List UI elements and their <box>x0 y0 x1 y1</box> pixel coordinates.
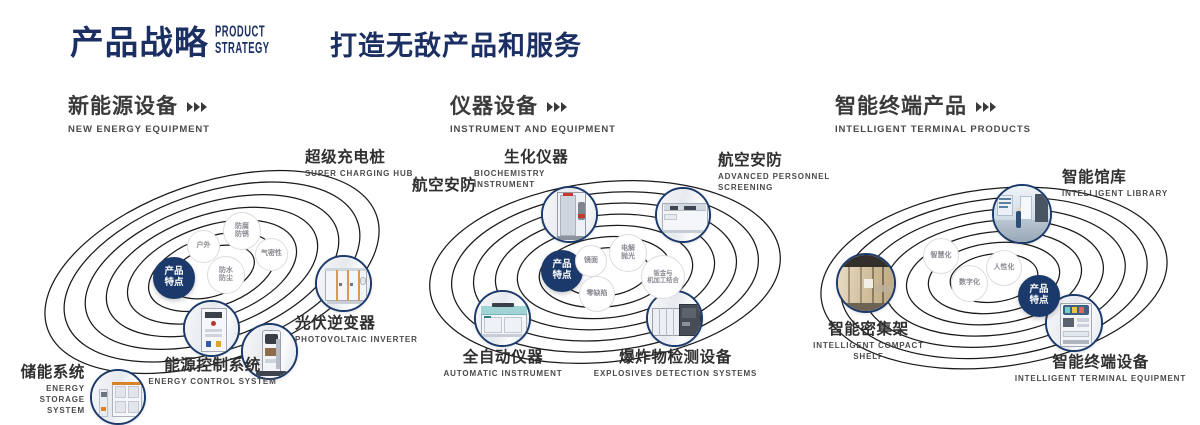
node-intelligent-compact-shelf[interactable] <box>836 253 896 313</box>
feature-primary-line2: 特点 <box>552 271 571 282</box>
node-biochemistry-instrument[interactable] <box>541 186 598 243</box>
label-biochemistry-instrument: 生化仪器 BIOCHEMISTRY INSTRUMENT <box>474 150 592 191</box>
intelligent-library-art <box>994 186 1050 242</box>
chevron-right-icon <box>547 102 567 112</box>
feature-bubble-digital: 数字化 <box>951 265 988 302</box>
label-en: INTELLIGENT COMPACT SHELF <box>796 341 941 363</box>
advanced-personnel-screening-art <box>657 189 709 241</box>
feature-bubble-humanized: 人性化 <box>986 250 1022 286</box>
node-automatic-instrument[interactable] <box>474 290 531 347</box>
section-title-en-0: NEW ENERGY EQUIPMENT <box>68 124 210 135</box>
page-subtitle: 打造无敌产品和服务 <box>330 33 582 60</box>
label-en: INTELLIGENT LIBRARY <box>1062 189 1192 200</box>
label-cn: 全自动仪器 <box>423 350 583 366</box>
feature-bubble-sheetmetal-machining: 钣金与 机加工结合 <box>641 255 685 299</box>
page-title-en: PRODUCT STRATEGY <box>215 26 270 57</box>
photovoltaic-inverter-art <box>317 257 370 310</box>
label-energy-control-system: 能源控制系统 ENERGY CONTROL SYSTEM <box>130 358 295 388</box>
chevron-right-icon <box>976 102 996 112</box>
section-title-cn-2: 智能终端产品 <box>835 96 967 117</box>
poster-canvas: 产品战略 PRODUCT STRATEGY 打造无敌产品和服务 新能源设备 NE… <box>0 0 1200 422</box>
feature-bubble-waterproof: 防水 防尘 <box>207 256 245 294</box>
feature-bubble-intelligent: 智慧化 <box>923 238 959 274</box>
section-title-en-2: INTELLIGENT TERMINAL PRODUCTS <box>835 124 1031 135</box>
section-header-terminal: 智能终端产品 INTELLIGENT TERMINAL PRODUCTS <box>835 96 1031 135</box>
energy-control-system-art <box>185 302 238 355</box>
feature-primary-line2: 特点 <box>164 278 183 289</box>
page-title-en-line1: PRODUCT <box>215 26 270 42</box>
label-intelligent-terminal-equipment: 智能终端设备 INTELLIGENT TERMINAL EQUIPMENT <box>1003 355 1198 385</box>
feature-primary-line2: 特点 <box>1029 296 1048 307</box>
label-en: ENERGY STORAGE SYSTEM <box>0 384 85 416</box>
node-energy-control-system[interactable] <box>183 300 240 357</box>
label-cn: 生化仪器 <box>504 150 592 166</box>
explosives-detection-systems-art <box>648 292 701 345</box>
label-cn: 能源控制系统 <box>130 358 295 374</box>
section-title-en-1: INSTRUMENT AND EQUIPMENT <box>450 124 616 135</box>
label-en: AUTOMATIC INSTRUMENT <box>423 369 583 380</box>
cluster-new-energy-equipment: 储能系统 ENERGY STORAGE SYSTEM 超级充电桩 SUPER C… <box>0 150 420 400</box>
node-advanced-personnel-screening[interactable] <box>655 187 711 243</box>
biochemistry-instrument-art <box>543 188 596 241</box>
label-en: ENERGY CONTROL SYSTEM <box>130 377 295 388</box>
label-en: EXPLOSIVES DETECTION SYSTEMS <box>583 369 768 380</box>
feature-bubble-mirror: 镜面 <box>575 245 607 277</box>
label-intelligent-compact-shelf: 智能密集架 INTELLIGENT COMPACT SHELF <box>796 322 941 363</box>
intelligent-compact-shelf-art <box>838 255 894 311</box>
feature-bubble-airtight: 气密性 <box>255 238 288 271</box>
feature-bubble-zero-defect: 零缺陷 <box>579 276 615 312</box>
label-cn: 爆炸物检测设备 <box>583 350 768 366</box>
node-photovoltaic-inverter[interactable] <box>315 255 372 312</box>
label-energy-storage-system: 储能系统 ENERGY STORAGE SYSTEM <box>0 365 85 417</box>
label-en: INTELLIGENT TERMINAL EQUIPMENT <box>1003 374 1198 385</box>
page-title-en-line2: STRATEGY <box>215 41 270 57</box>
label-en: BIOCHEMISTRY INSTRUMENT <box>474 169 592 191</box>
feature-bubble-electropolishing: 电解 抛光 <box>609 234 647 272</box>
node-intelligent-library[interactable] <box>992 184 1052 244</box>
label-cn: 智能密集架 <box>796 322 941 338</box>
label-explosives-detection-systems: 爆炸物检测设备 EXPLOSIVES DETECTION SYSTEMS <box>583 350 768 380</box>
node-explosives-detection-systems[interactable] <box>646 290 703 347</box>
section-header-instrument: 仪器设备 INSTRUMENT AND EQUIPMENT <box>450 96 616 135</box>
automatic-instrument-art <box>476 292 529 345</box>
label-cn: 储能系统 <box>0 365 85 381</box>
feature-bubble-primary: 产品 特点 <box>153 257 195 299</box>
feature-bubble-primary: 产品 特点 <box>1018 275 1060 317</box>
section-title-cn-0: 新能源设备 <box>68 96 178 117</box>
label-cn: 智能馆库 <box>1062 170 1192 186</box>
section-title-cn-1: 仪器设备 <box>450 96 538 117</box>
cluster-intelligent-terminal-products: 智能馆库 INTELLIGENT LIBRARY 智能终端设备 INTELLIG… <box>790 150 1200 400</box>
label-cn: 智能终端设备 <box>1003 355 1198 371</box>
chevron-right-icon <box>187 102 207 112</box>
cluster-instrument-and-equipment: 航空安防 生化仪器 BIOCHEMISTRY INSTRUMENT <box>400 150 820 400</box>
page-title-cn: 产品战略 <box>70 26 209 59</box>
section-header-new-energy: 新能源设备 NEW ENERGY EQUIPMENT <box>68 96 210 135</box>
poster-header: 产品战略 PRODUCT STRATEGY <box>70 26 282 59</box>
feature-bubble-anticorrosion: 防腐 防锈 <box>223 212 261 250</box>
label-intelligent-library: 智能馆库 INTELLIGENT LIBRARY <box>1062 170 1192 200</box>
label-automatic-instrument: 全自动仪器 AUTOMATIC INSTRUMENT <box>423 350 583 380</box>
